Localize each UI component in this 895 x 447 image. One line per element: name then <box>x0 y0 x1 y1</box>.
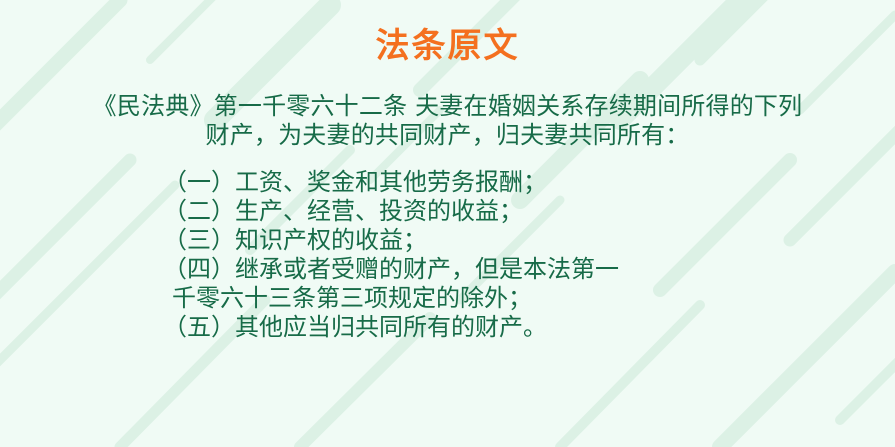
clause-item-2: （二）生产、经营、投资的收益； <box>163 197 523 226</box>
page-title: 法条原文 <box>0 27 895 66</box>
clause-item-5: （五）其他应当归共同所有的财产。 <box>163 313 547 342</box>
article-intro-paragraph: 《民法典》第一千零六十二条 夫妻在婚姻关系存续期间所得的下列财产，为夫妻的共同财… <box>0 92 895 150</box>
clause-item-3: （三）知识产权的收益； <box>163 226 427 255</box>
clause-item-4: （四）继承或者受赠的财产，但是本法第一 <box>163 255 619 284</box>
legal-article-slide: 法条原文 《民法典》第一千零六十二条 夫妻在婚姻关系存续期间所得的下列财产，为夫… <box>0 0 895 447</box>
clause-list: （一）工资、奖金和其他劳务报酬； （二）生产、经营、投资的收益； （三）知识产权… <box>0 168 895 342</box>
clause-item-1: （一）工资、奖金和其他劳务报酬； <box>163 168 547 197</box>
article-body: 《民法典》第一千零六十二条 夫妻在婚姻关系存续期间所得的下列财产，为夫妻的共同财… <box>0 92 895 342</box>
slide-content: 法条原文 《民法典》第一千零六十二条 夫妻在婚姻关系存续期间所得的下列财产，为夫… <box>0 0 895 447</box>
clause-item-4-continuation: 千零六十三条第三项规定的除外； <box>163 284 532 313</box>
